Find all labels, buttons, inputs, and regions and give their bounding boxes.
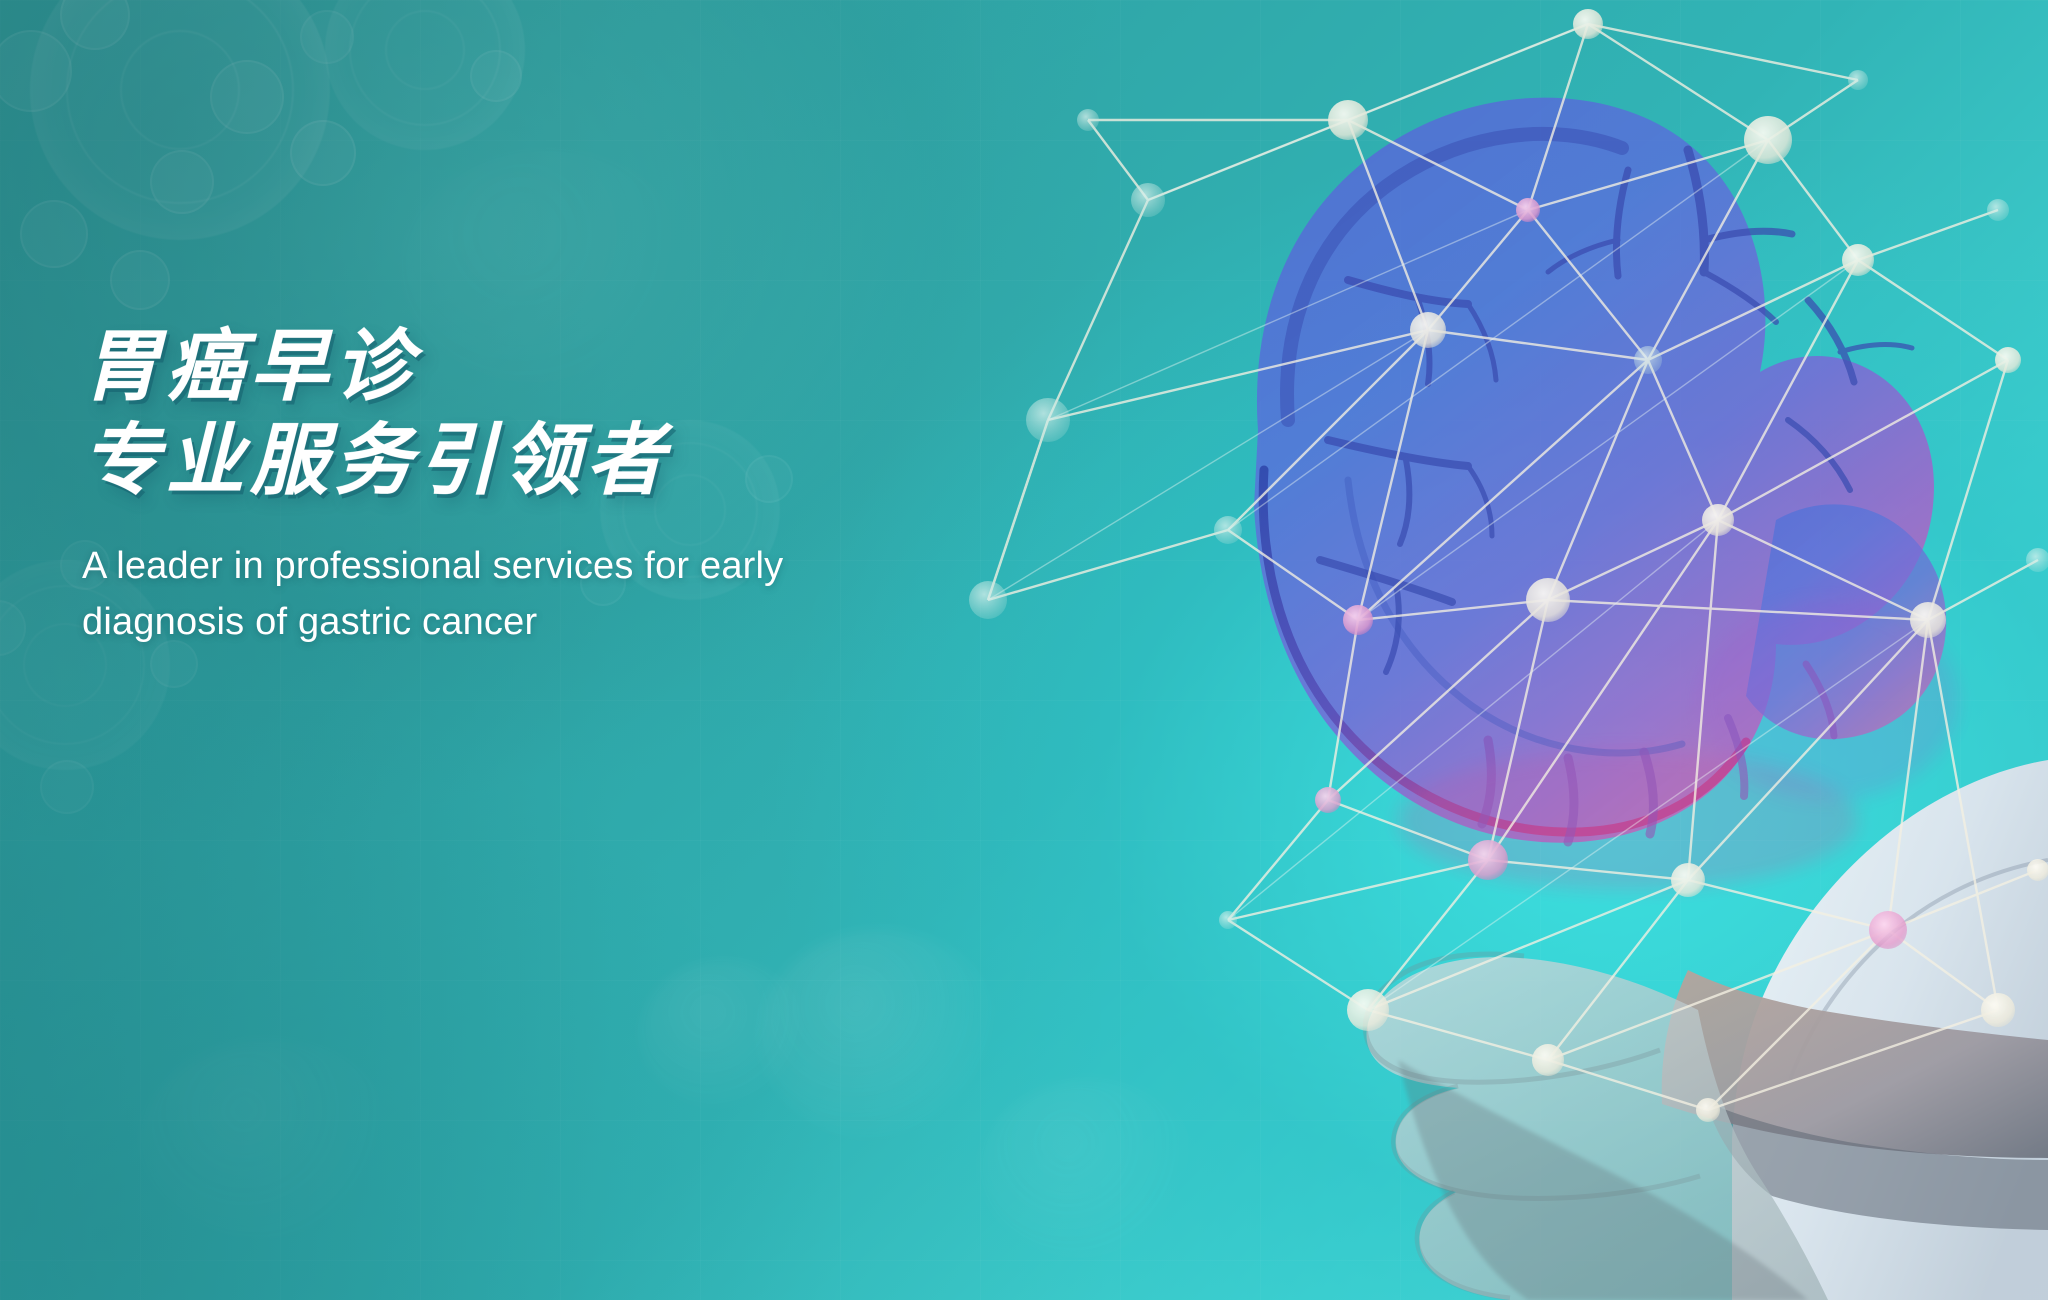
- subheadline-line-2: diagnosis of gastric cancer: [82, 594, 942, 650]
- stomach-hologram-illustration: [928, 0, 2048, 1300]
- banner-canvas: 胃癌早诊 专业服务引领者 A leader in professional se…: [0, 0, 2048, 1300]
- headline-block: 胃癌早诊 专业服务引领者 A leader in professional se…: [82, 322, 942, 650]
- subheadline-line-1: A leader in professional services for ea…: [82, 538, 942, 594]
- headline-line-1: 胃癌早诊: [82, 322, 942, 410]
- headline-line-2: 专业服务引领者: [82, 416, 942, 504]
